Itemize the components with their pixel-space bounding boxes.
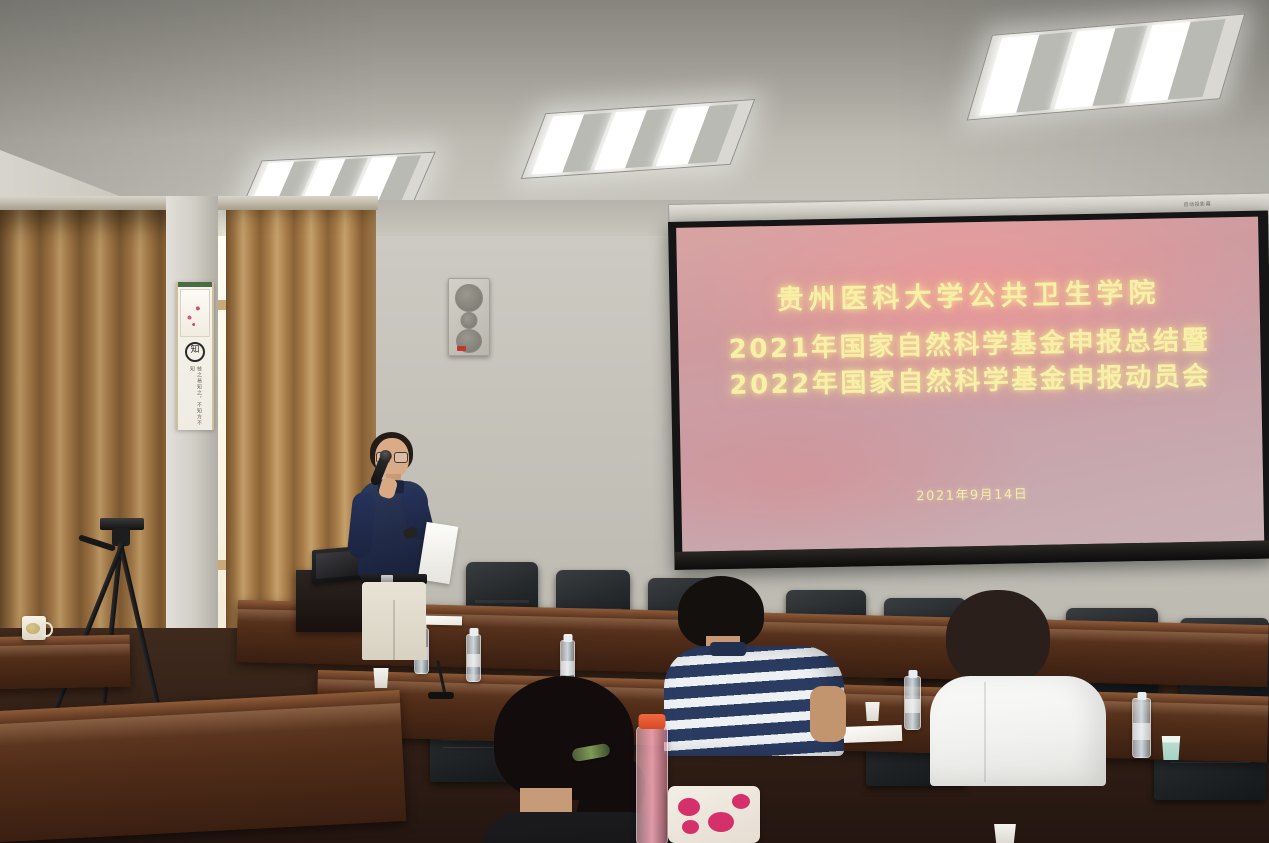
paper-cup <box>1160 736 1182 760</box>
pink-water-bottle <box>636 726 668 843</box>
slide-organization-title: 贵州医科大学公共卫生学院 <box>677 269 1260 319</box>
microphone-base <box>428 692 454 699</box>
speaker-driver-mid <box>461 312 478 329</box>
attendee-hair <box>946 590 1050 686</box>
presenter <box>344 432 464 668</box>
slide-date: 2021年9月14日 <box>681 479 1263 509</box>
polo-collar <box>710 642 746 656</box>
projection-screen-surface: 贵州医科大学公共卫生学院 2021年国家自然科学基金申报总结暨 2022年国家自… <box>676 217 1264 552</box>
projection-screen: 贵州医科大学公共卫生学院 2021年国家自然科学基金申报总结暨 2022年国家自… <box>668 210 1269 569</box>
speaker-driver-top <box>455 284 483 312</box>
floral-pouch <box>668 786 760 843</box>
scroll-seal-character: 知 <box>185 342 205 362</box>
scroll-verse-text: 枝之易知之，不知方不知 <box>188 366 202 426</box>
speaker-brand-logo <box>457 346 466 351</box>
paper-cup <box>864 702 881 721</box>
desk-row-front <box>0 690 406 843</box>
curtain-left <box>0 210 178 680</box>
blouse-seam <box>984 682 986 782</box>
attendee-white-blouse <box>930 590 1110 843</box>
wall-speaker <box>448 278 490 356</box>
wall-scroll: 知 枝之易知之，不知方不知 <box>176 282 214 430</box>
scroll-header-band <box>178 282 212 287</box>
slide-text-block: 贵州医科大学公共卫生学院 2021年国家自然科学基金申报总结暨 2022年国家自… <box>677 269 1261 406</box>
screen-housing-label: 自动投影幕 <box>1184 201 1212 209</box>
paper-cup <box>372 668 390 688</box>
plum-blossom-art <box>180 289 210 337</box>
attendee-torso <box>930 676 1106 786</box>
desk-front-left <box>0 635 130 689</box>
attendee-arm <box>810 686 846 742</box>
wall-pillar <box>166 196 218 666</box>
water-bottle <box>1132 698 1151 758</box>
conference-room-photo: 知 枝之易知之，不知方不知 自动投影幕 贵州医科大学公共卫生学院 2021年国家… <box>0 0 1269 843</box>
ceramic-mug <box>22 616 46 640</box>
water-bottle <box>466 634 481 682</box>
water-bottle <box>904 676 921 730</box>
presenter-trousers <box>362 582 426 660</box>
